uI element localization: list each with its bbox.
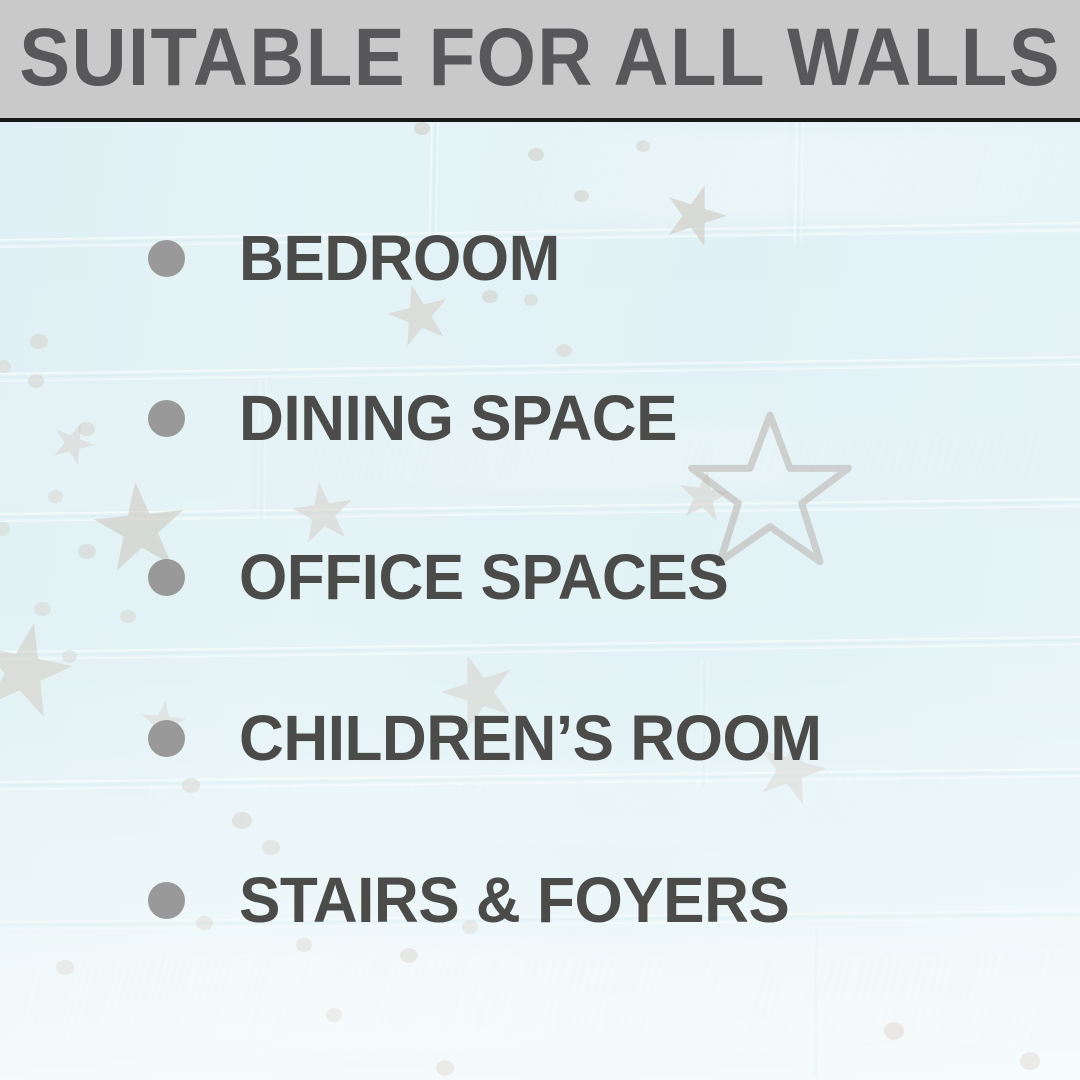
list-item[interactable]: CHILDREN’S ROOM [148,698,840,778]
bullet-icon [148,559,185,596]
feature-label: BEDROOM [239,226,560,290]
feature-list: BEDROOM DINING SPACE OFFICE SPACES CHILD… [0,122,1080,1080]
header-band: SUITABLE FOR ALL WALLS [0,0,1080,118]
feature-label: DINING SPACE [239,386,677,450]
list-item[interactable]: BEDROOM [148,218,570,298]
list-item[interactable]: OFFICE SPACES [148,537,743,617]
feature-label: OFFICE SPACES [239,545,728,609]
feature-label: STAIRS & FOYERS [239,868,789,932]
feature-label: CHILDREN’S ROOM [239,706,821,770]
bullet-icon [148,720,185,757]
list-item[interactable]: STAIRS & FOYERS [148,860,806,940]
infographic-root: SUITABLE FOR ALL WALLS [0,0,1080,1080]
bullet-icon [148,240,185,277]
bullet-icon [148,400,185,437]
list-item[interactable]: DINING SPACE [148,378,691,458]
bullet-icon [148,882,185,919]
page-title: SUITABLE FOR ALL WALLS [19,17,1061,99]
